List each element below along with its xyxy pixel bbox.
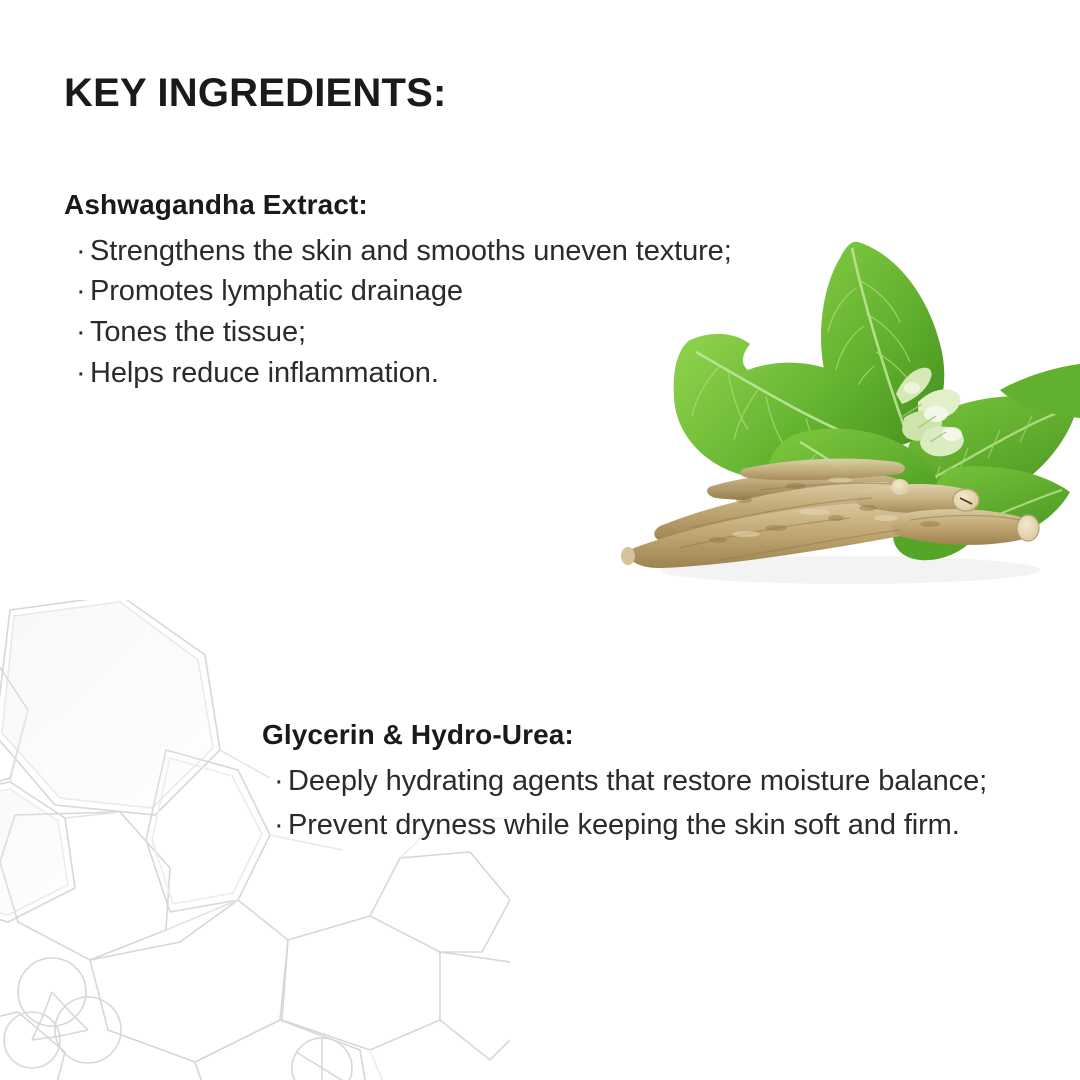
list-item: · Tones the tissue; [64,313,764,352]
page-title: KEY INGREDIENTS: [64,70,447,116]
list-item-label: Deeply hydrating agents that restore moi… [288,762,1022,801]
ingredient-section-ashwagandha: Ashwagandha Extract: · Strengthens the s… [64,188,764,395]
list-item-label: Promotes lymphatic drainage [90,272,764,311]
slide-content: KEY INGREDIENTS: Ashwagandha Extract: · … [0,0,1080,1080]
bullet-list-glycerin-hydro-urea: · Deeply hydrating agents that restore m… [262,762,1022,846]
list-item: · Deeply hydrating agents that restore m… [262,762,1022,801]
bullet-dot-icon: · [262,806,288,845]
list-item: · Helps reduce inflammation. [64,354,764,393]
ingredients-slide: KEY INGREDIENTS: Ashwagandha Extract: · … [0,0,1080,1080]
list-item-label: Tones the tissue; [90,313,764,352]
bullet-dot-icon: · [64,354,90,393]
bullet-dot-icon: · [64,272,90,311]
list-item-label: Helps reduce inflammation. [90,354,764,393]
ingredient-section-glycerin-hydro-urea: Glycerin & Hydro-Urea: · Deeply hydratin… [262,718,1022,851]
list-item: · Strengthens the skin and smooths uneve… [64,232,764,271]
bullet-dot-icon: · [262,762,288,801]
list-item: · Promotes lymphatic drainage [64,272,764,311]
list-item: · Prevent dryness while keeping the skin… [262,806,1022,845]
section-heading-glycerin-hydro-urea: Glycerin & Hydro-Urea: [262,718,1022,752]
list-item-label: Strengthens the skin and smooths uneven … [90,232,764,271]
section-heading-ashwagandha: Ashwagandha Extract: [64,188,764,222]
bullet-dot-icon: · [64,313,90,352]
list-item-label: Prevent dryness while keeping the skin s… [288,806,1022,845]
bullet-list-ashwagandha: · Strengthens the skin and smooths uneve… [64,232,764,393]
bullet-dot-icon: · [64,232,90,271]
